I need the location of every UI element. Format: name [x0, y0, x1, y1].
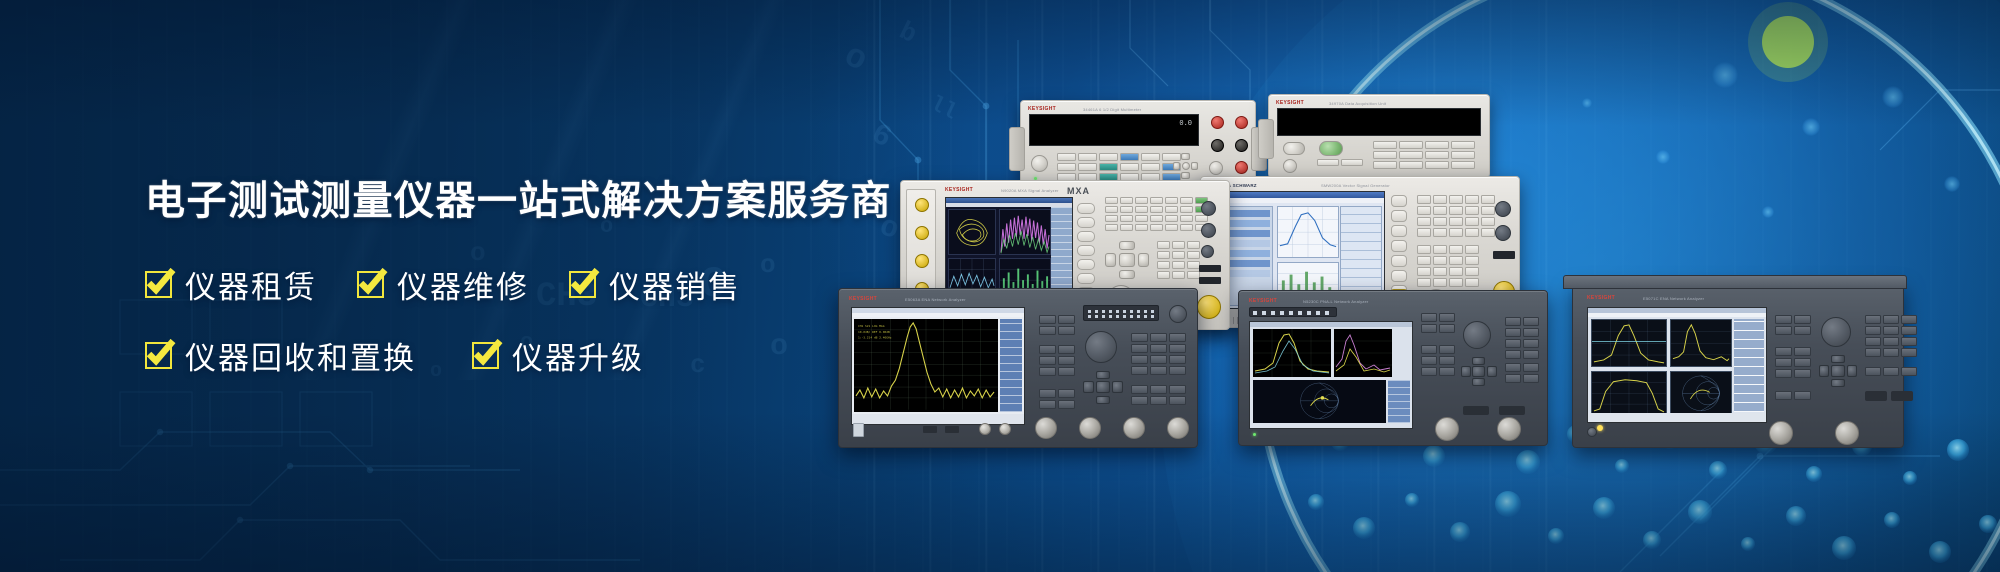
- page-title: 电子测试测量仪器一站式解决方案服务商: [145, 168, 905, 226]
- softkey-column[interactable]: [1077, 203, 1095, 298]
- input-terminal-current[interactable]: [1235, 161, 1248, 174]
- channel-keypad[interactable]: [1039, 315, 1075, 335]
- feature-row-1: 仪器租赁 仪器维修 仪器销售: [145, 262, 905, 307]
- model-label: SMW200A Vector Signal Generator: [1321, 183, 1390, 188]
- usb-port[interactable]: [1493, 251, 1515, 259]
- response-keypad[interactable]: [1039, 345, 1075, 376]
- softkey-column[interactable]: [1775, 315, 1811, 335]
- test-port-1[interactable]: [1769, 421, 1793, 445]
- numeric-keypad[interactable]: [1417, 245, 1479, 287]
- navigation-knob[interactable]: [1821, 317, 1851, 347]
- feature-label: 仪器升级: [512, 333, 644, 378]
- instrument-display: [1587, 307, 1767, 423]
- test-port-1[interactable]: [1435, 417, 1459, 441]
- model-label: N5230C PNA-L Network Analyzer: [1303, 299, 1368, 304]
- stimulus-keypad[interactable]: [1039, 389, 1075, 409]
- input-terminal-hi[interactable]: [1211, 116, 1224, 129]
- hero-banner: o b 6 ll c o C o CH3 CH3 o o o c o o c o…: [0, 0, 2000, 572]
- input-terminal-hi-2[interactable]: [1235, 116, 1248, 129]
- function-keypad[interactable]: [1105, 197, 1208, 231]
- feature-item-instrument-sales[interactable]: 仪器销售: [569, 262, 741, 307]
- navigation-knob[interactable]: [1085, 331, 1117, 363]
- feature-label: 仪器租赁: [185, 262, 317, 307]
- brand-label: KEYSIGHT: [1587, 295, 1615, 301]
- usb-port[interactable]: [945, 426, 959, 433]
- marker-keypad[interactable]: [1505, 363, 1539, 383]
- rf-input-connector[interactable]: [1197, 295, 1221, 319]
- banner-copy: 电子测试测量仪器一站式解决方案服务商 仪器租赁 仪器维修: [145, 168, 905, 378]
- navigation-knob[interactable]: [1463, 321, 1491, 349]
- check-box-icon: [145, 271, 172, 298]
- brand-label: KEYSIGHT: [1276, 100, 1304, 106]
- probe-connector-2[interactable]: [999, 423, 1011, 435]
- check-box-icon: [569, 271, 596, 298]
- model-label: 34461A 6 1/2 Digit Multimeter: [1083, 107, 1141, 112]
- instrument-network-analyzer-right: KEYSIGHT E5071C ENA Network Analyzer: [1572, 282, 1904, 448]
- feature-row-2: 仪器回收和置换 仪器升级: [145, 333, 905, 378]
- usb-port[interactable]: [1891, 391, 1913, 401]
- brand-label: KEYSIGHT: [945, 187, 973, 193]
- config-keypad[interactable]: [1373, 141, 1475, 169]
- stimulus-keypad[interactable]: [1775, 391, 1811, 400]
- marker-keypad[interactable]: [1865, 367, 1917, 376]
- brand-label: KEYSIGHT: [1249, 298, 1277, 304]
- usb-port[interactable]: [1463, 406, 1489, 415]
- brand-label: KEYSIGHT: [1028, 106, 1056, 112]
- test-port-2[interactable]: [1079, 417, 1101, 439]
- feature-item-instrument-rental[interactable]: 仪器租赁: [145, 262, 317, 307]
- model-label: E5071C ENA Network Analyzer: [1643, 296, 1704, 301]
- feature-label: 仪器销售: [609, 262, 741, 307]
- check-box-icon: [145, 342, 172, 369]
- instrument-top-cover: [1563, 275, 1907, 289]
- aux-jack[interactable]: [1201, 245, 1214, 258]
- feature-label: 仪器回收和置换: [185, 333, 416, 378]
- model-label: E5063A ENA Network Analyzer: [905, 297, 966, 302]
- instrument-display: [1277, 108, 1481, 136]
- response-keypad[interactable]: [1775, 347, 1811, 378]
- aux-connector-2[interactable]: [1495, 225, 1511, 241]
- feature-item-instrument-upgrade[interactable]: 仪器升级: [472, 333, 644, 378]
- numeric-keypad[interactable]: [1505, 317, 1539, 359]
- model-label: N9020A MXA Signal Analyzer: [1001, 188, 1059, 193]
- carry-handle: [1258, 119, 1274, 159]
- function-keypad[interactable]: [1417, 195, 1495, 237]
- floppy-slot[interactable]: [853, 423, 864, 437]
- input-terminal-lo[interactable]: [1211, 139, 1224, 152]
- feature-item-instrument-repair[interactable]: 仪器维修: [357, 262, 529, 307]
- check-box-icon: [472, 342, 499, 369]
- marker-keypad[interactable]: [1131, 385, 1186, 405]
- usb-port[interactable]: [923, 426, 937, 433]
- usb-port[interactable]: [1199, 277, 1221, 284]
- instrument-network-analyzer-center: KEYSIGHT N5230C PNA-L Network Analyzer: [1238, 290, 1548, 446]
- model-label: 34970A Data Acquisition Unit: [1329, 101, 1386, 106]
- vent-grille: [1083, 305, 1159, 321]
- test-port-3[interactable]: [1123, 417, 1145, 439]
- check-box-icon: [357, 271, 384, 298]
- numeric-keypad[interactable]: [1131, 333, 1186, 375]
- softkey-column[interactable]: [1391, 195, 1407, 297]
- instrument-photo-cluster: KEYSIGHT 34461A 6 1/2 Digit Multimeter 0…: [1010, 84, 2000, 524]
- feature-label: 仪器维修: [397, 262, 529, 307]
- instrument-display: [1249, 321, 1413, 429]
- enter-knob[interactable]: [1319, 141, 1343, 156]
- response-keypad[interactable]: [1421, 345, 1455, 376]
- input-terminal-lo-2[interactable]: [1235, 139, 1248, 152]
- power-button[interactable]: [1587, 427, 1597, 437]
- headphone-jack[interactable]: [1201, 201, 1216, 216]
- front-panel-keypad[interactable]: [1317, 159, 1363, 166]
- carry-handle: [1009, 127, 1025, 171]
- probe-power-jack[interactable]: [1201, 223, 1216, 238]
- probe-connector[interactable]: [979, 423, 991, 435]
- product-family-label: MXA: [1067, 186, 1090, 196]
- power-knob[interactable]: [1031, 155, 1048, 172]
- aux-connector[interactable]: [1495, 201, 1511, 217]
- usb-port[interactable]: [1865, 391, 1887, 401]
- instrument-digital-multimeter-left: KEYSIGHT 34461A 6 1/2 Digit Multimeter 0…: [1020, 100, 1256, 188]
- test-port-4[interactable]: [1167, 417, 1189, 439]
- test-port-1[interactable]: [1035, 417, 1057, 439]
- numeric-keypad[interactable]: [1865, 315, 1917, 357]
- test-port-2[interactable]: [1497, 417, 1521, 441]
- usb-port[interactable]: [1499, 406, 1525, 415]
- power-knob[interactable]: [1283, 159, 1297, 173]
- vent-grille: [1249, 307, 1337, 317]
- terminal-switch[interactable]: [1209, 161, 1223, 175]
- feature-item-recycle-exchange[interactable]: 仪器回收和置换: [145, 333, 416, 378]
- numeric-keypad[interactable]: [1157, 241, 1200, 279]
- power-button[interactable]: [1169, 305, 1187, 323]
- test-port-2[interactable]: [1835, 421, 1859, 445]
- front-panel-keypad[interactable]: [1057, 153, 1181, 181]
- rotary-selector[interactable]: [1283, 142, 1305, 155]
- instrument-digital-multimeter-right: KEYSIGHT 34970A Data Acquisition Unit: [1268, 94, 1490, 178]
- softkey-column[interactable]: [1421, 313, 1455, 333]
- instrument-display: 0.0: [1029, 114, 1199, 146]
- usb-port[interactable]: [1199, 265, 1221, 272]
